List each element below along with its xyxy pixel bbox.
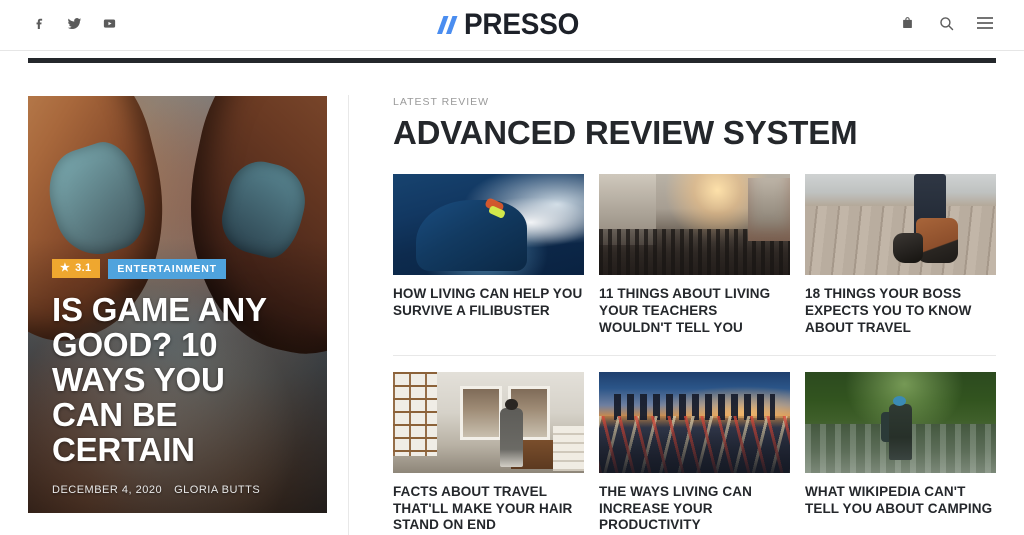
article-grid: HOW LIVING CAN HELP YOU SURVIVE A FILIBU… bbox=[393, 174, 996, 534]
grid-row-separator bbox=[393, 355, 996, 356]
leather-boots-on-wooden-deck-image bbox=[805, 174, 996, 275]
rating-value: 3.1 bbox=[75, 263, 91, 274]
article-thumbnail[interactable] bbox=[599, 174, 790, 275]
hero-title[interactable]: IS GAME ANY GOOD? 10 WAYS YOU CAN BE CER… bbox=[52, 293, 303, 468]
double-slash-icon bbox=[436, 13, 462, 37]
logo-text: PRESSO bbox=[464, 10, 579, 40]
person-in-sunlit-apartment-room-image bbox=[393, 372, 584, 473]
article-thumbnail[interactable] bbox=[393, 174, 584, 275]
search-icon[interactable] bbox=[937, 14, 955, 32]
article-thumbnail[interactable] bbox=[393, 372, 584, 473]
hiker-wading-forest-stream-image bbox=[805, 372, 996, 473]
article-card[interactable]: 18 THINGS YOUR BOSS EXPECTS YOU TO KNOW … bbox=[805, 174, 996, 337]
article-title[interactable]: 18 THINGS YOUR BOSS EXPECTS YOU TO KNOW … bbox=[805, 286, 996, 337]
crowded-city-street-at-sunset-image bbox=[599, 174, 790, 275]
highway-light-trails-city-skyline-image bbox=[599, 372, 790, 473]
hero-content: ★ 3.1 ENTERTAINMENT IS GAME ANY GOOD? 10… bbox=[28, 259, 327, 513]
article-card[interactable]: HOW LIVING CAN HELP YOU SURVIVE A FILIBU… bbox=[393, 174, 584, 337]
hero-badges: ★ 3.1 ENTERTAINMENT bbox=[52, 259, 303, 280]
section-eyebrow: LATEST REVIEW bbox=[393, 96, 996, 108]
main-content: ★ 3.1 ENTERTAINMENT IS GAME ANY GOOD? 10… bbox=[0, 72, 1024, 535]
article-title[interactable]: 11 THINGS ABOUT LIVING YOUR TEACHERS WOU… bbox=[599, 286, 790, 337]
article-title[interactable]: HOW LIVING CAN HELP YOU SURVIVE A FILIBU… bbox=[393, 286, 584, 320]
hero-author[interactable]: GLORIA BUTTS bbox=[174, 484, 260, 496]
site-header: PRESSO bbox=[0, 0, 1024, 51]
light-trails-detail bbox=[599, 416, 790, 473]
hero-featured-article[interactable]: ★ 3.1 ENTERTAINMENT IS GAME ANY GOOD? 10… bbox=[28, 96, 327, 513]
article-card[interactable]: FACTS ABOUT TRAVEL THAT'LL MAKE YOUR HAI… bbox=[393, 372, 584, 535]
hero-meta: DECEMBER 4, 2020 GLORIA BUTTS bbox=[52, 484, 303, 496]
article-thumbnail[interactable] bbox=[805, 372, 996, 473]
hiker-detail bbox=[889, 404, 912, 461]
article-title[interactable]: FACTS ABOUT TRAVEL THAT'LL MAKE YOUR HAI… bbox=[393, 484, 584, 535]
surfer-riding-blue-wave-image bbox=[393, 174, 584, 275]
article-thumbnail[interactable] bbox=[805, 174, 996, 275]
crowd-detail bbox=[599, 229, 790, 275]
page-root: PRESSO ★ bbox=[0, 0, 1024, 535]
latest-review-section: LATEST REVIEW ADVANCED REVIEW SYSTEM HOW… bbox=[393, 96, 996, 534]
article-card[interactable]: 11 THINGS ABOUT LIVING YOUR TEACHERS WOU… bbox=[599, 174, 790, 337]
column-divider bbox=[348, 95, 349, 535]
article-thumbnail[interactable] bbox=[599, 372, 790, 473]
star-icon: ★ bbox=[60, 263, 70, 274]
header-actions bbox=[898, 14, 994, 32]
person-detail bbox=[500, 408, 523, 467]
shopping-bag-icon[interactable] bbox=[898, 14, 916, 32]
page-title: ADVANCED REVIEW SYSTEM bbox=[393, 116, 996, 149]
category-badge[interactable]: ENTERTAINMENT bbox=[108, 259, 225, 280]
site-logo[interactable]: PRESSO bbox=[0, 9, 1024, 41]
header-accent-rule bbox=[28, 58, 996, 63]
article-title[interactable]: THE WAYS LIVING CAN INCREASE YOUR PRODUC… bbox=[599, 484, 790, 535]
article-card[interactable]: WHAT WIKIPEDIA CAN'T TELL YOU ABOUT CAMP… bbox=[805, 372, 996, 535]
boot-detail-left bbox=[893, 233, 924, 263]
drawers-detail bbox=[553, 426, 584, 470]
window-detail-left bbox=[460, 386, 502, 441]
bookshelf-detail bbox=[393, 372, 437, 457]
article-card[interactable]: THE WAYS LIVING CAN INCREASE YOUR PRODUC… bbox=[599, 372, 790, 535]
hamburger-menu-icon[interactable] bbox=[976, 14, 994, 32]
rating-badge: ★ 3.1 bbox=[52, 259, 100, 278]
hero-date: DECEMBER 4, 2020 bbox=[52, 484, 162, 496]
article-title[interactable]: WHAT WIKIPEDIA CAN'T TELL YOU ABOUT CAMP… bbox=[805, 484, 996, 518]
